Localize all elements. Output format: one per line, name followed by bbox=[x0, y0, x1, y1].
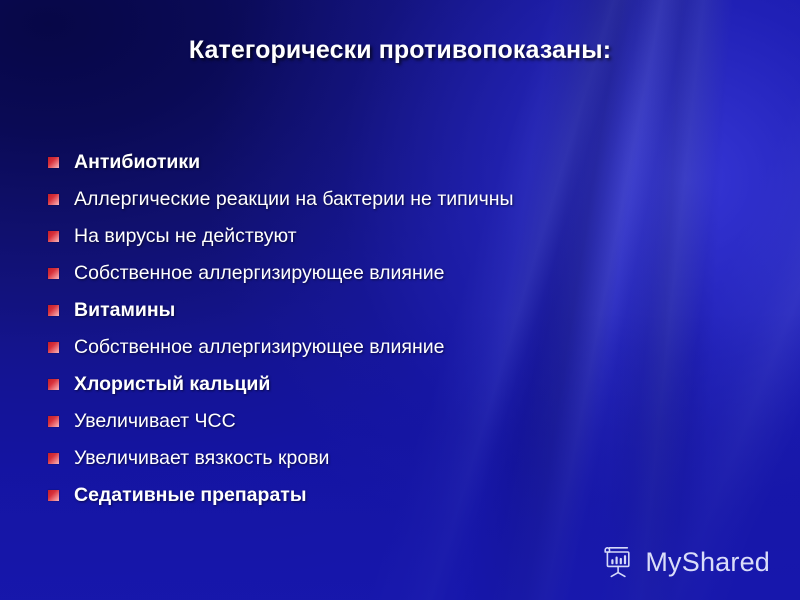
bullet-item: Седативные препараты bbox=[48, 477, 760, 514]
red-square-bullet-icon bbox=[48, 342, 59, 353]
red-square-bullet-icon bbox=[48, 490, 59, 501]
myshared-wordmark: MyShared bbox=[645, 549, 770, 576]
bullet-item: Собственное аллергизирующее влияние bbox=[48, 329, 760, 366]
red-square-bullet-icon bbox=[48, 453, 59, 464]
bullet-item: Аллергические реакции на бактерии не тип… bbox=[48, 181, 760, 218]
bullet-item-label: Увеличивает вязкость крови bbox=[74, 449, 329, 469]
red-square-bullet-icon bbox=[48, 194, 59, 205]
bullet-item: Собственное аллергизирующее влияние bbox=[48, 255, 760, 292]
slide-title: Категорически противопоказаны: bbox=[0, 36, 800, 65]
red-square-bullet-icon bbox=[48, 157, 59, 168]
red-square-bullet-icon bbox=[48, 416, 59, 427]
bullet-item-label: Хлористый кальций bbox=[74, 375, 270, 395]
red-square-bullet-icon bbox=[48, 231, 59, 242]
bullet-item-label: Витамины bbox=[74, 301, 175, 321]
red-square-bullet-icon bbox=[48, 268, 59, 279]
bullet-item-label: Аллергические реакции на бактерии не тип… bbox=[74, 190, 514, 210]
bullet-item: Увеличивает вязкость крови bbox=[48, 440, 760, 477]
bullet-item-label: Собственное аллергизирующее влияние bbox=[74, 338, 445, 358]
bullet-item: На вирусы не действуют bbox=[48, 218, 760, 255]
red-square-bullet-icon bbox=[48, 305, 59, 316]
myshared-watermark: MyShared bbox=[601, 546, 770, 578]
bullet-item-label: Собственное аллергизирующее влияние bbox=[74, 264, 445, 284]
bullet-item: Витамины bbox=[48, 292, 760, 329]
presentation-slide: Категорически противопоказаны: Антибиоти… bbox=[0, 0, 800, 600]
presentation-board-chart-icon bbox=[601, 546, 635, 578]
red-square-bullet-icon bbox=[48, 379, 59, 390]
bullet-item-label: На вирусы не действуют bbox=[74, 227, 297, 247]
bullet-list: АнтибиотикиАллергические реакции на бакт… bbox=[48, 144, 760, 514]
bullet-item: Хлористый кальций bbox=[48, 366, 760, 403]
bullet-item-label: Седативные препараты bbox=[74, 486, 307, 506]
bullet-item-label: Антибиотики bbox=[74, 153, 200, 173]
bullet-item-label: Увеличивает ЧСС bbox=[74, 412, 236, 432]
bullet-item: Увеличивает ЧСС bbox=[48, 403, 760, 440]
bullet-item: Антибиотики bbox=[48, 144, 760, 181]
